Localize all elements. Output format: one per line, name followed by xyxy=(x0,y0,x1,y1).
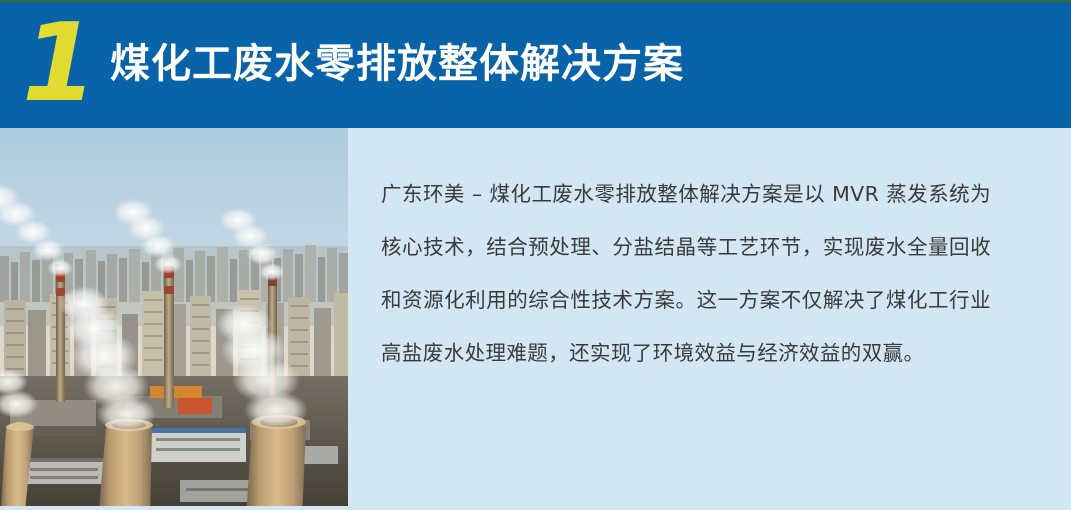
body-paragraph: 广东环美 – 煤化工废水零排放整体解决方案是以 MVR 蒸发系统为核心技术，结合… xyxy=(381,168,991,380)
slide-root: 1 煤化工废水零排放整体解决方案 xyxy=(0,0,1071,510)
section-number: 1 xyxy=(22,14,94,114)
header-band: 1 煤化工废水零排放整体解决方案 xyxy=(0,0,1071,128)
page-title: 煤化工废水零排放整体解决方案 xyxy=(110,36,684,92)
industrial-plant-photo xyxy=(0,128,348,506)
content-area: 广东环美 – 煤化工废水零排放整体解决方案是以 MVR 蒸发系统为核心技术，结合… xyxy=(0,128,1071,510)
photo-illustration xyxy=(0,128,348,506)
